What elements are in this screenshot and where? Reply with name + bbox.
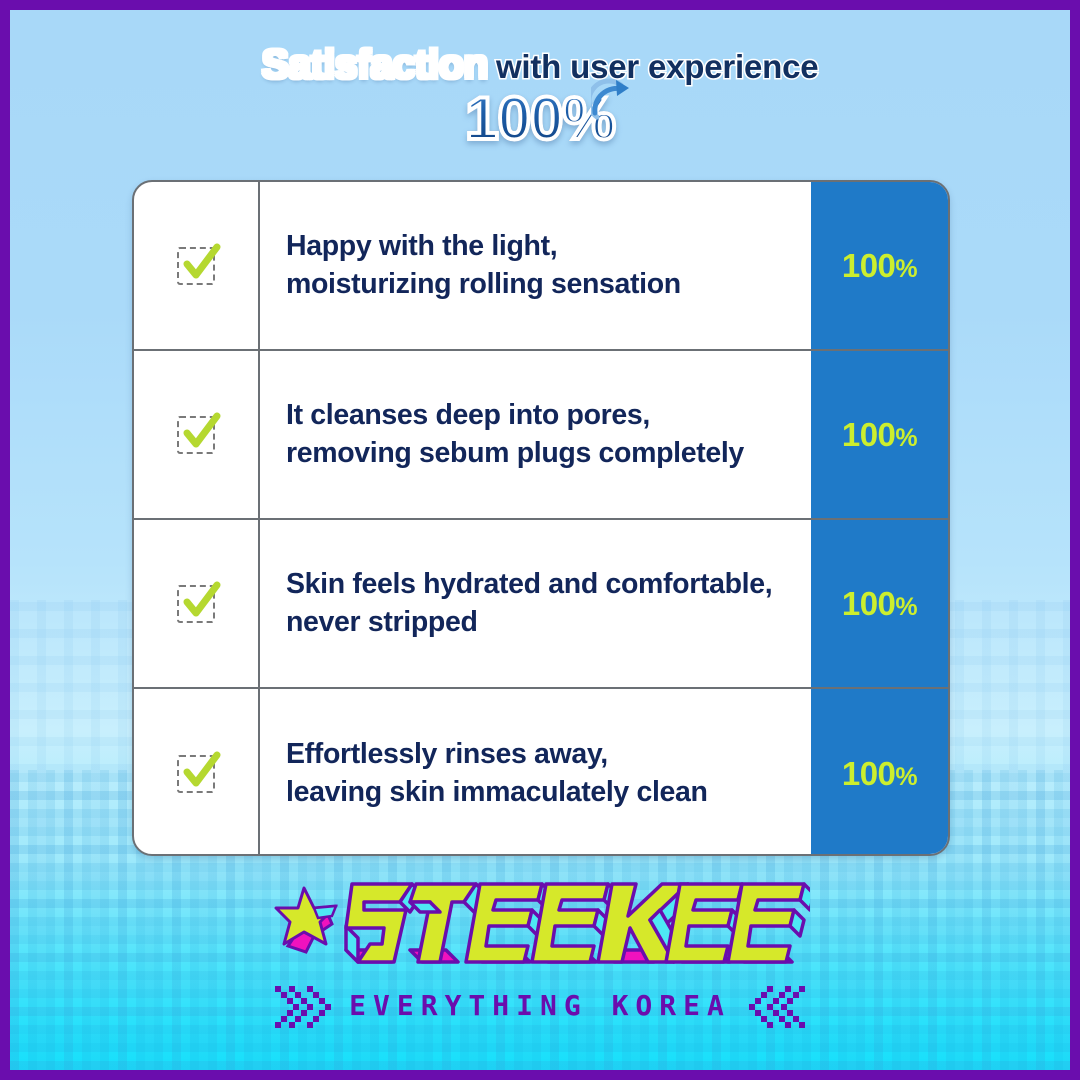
statement-cell: Skin feels hydrated and comfortable, nev… — [260, 520, 811, 687]
percent-cell: 100% — [811, 182, 948, 349]
steekee-logo — [270, 866, 810, 970]
checkbox-cell[interactable] — [134, 689, 260, 856]
percent-value: 100 — [842, 247, 896, 284]
header: Satisfactionwith user experience 100% — [10, 44, 1070, 149]
statement-line-1: Effortlessly rinses away, — [286, 736, 708, 773]
percent-value: 100 — [842, 585, 896, 622]
checkbox-cell[interactable] — [134, 520, 260, 687]
percent-cell: 100% — [811, 520, 948, 687]
percent-suffix: % — [895, 593, 917, 621]
refresh-arrow-icon — [591, 77, 637, 125]
statement-cell: It cleanses deep into pores, removing se… — [260, 351, 811, 518]
table-row: Effortlessly rinses away, leaving skin i… — [134, 689, 948, 856]
statement-line-1: Skin feels hydrated and comfortable, — [286, 566, 772, 603]
poster: Satisfactionwith user experience 100% — [0, 0, 1080, 1080]
statement-cell: Happy with the light, moisturizing rolli… — [260, 182, 811, 349]
table-row: Skin feels hydrated and comfortable, nev… — [134, 520, 948, 689]
statement-line-2: leaving skin immaculately clean — [286, 774, 708, 811]
statement-line-2: never stripped — [286, 604, 772, 641]
check-mark-icon — [179, 750, 223, 794]
star-icon — [276, 888, 336, 952]
header-title: Satisfactionwith user experience — [10, 44, 1070, 85]
percent-value: 100 — [842, 755, 896, 792]
logo-letter-E4 — [728, 884, 810, 962]
percent-suffix: % — [895, 424, 917, 452]
brand-logo — [10, 866, 1070, 975]
table-row: Happy with the light, moisturizing rolli… — [134, 182, 948, 351]
checkbox-checked-icon[interactable] — [177, 585, 215, 623]
statement-line-2: removing sebum plugs completely — [286, 435, 744, 472]
checkbox-checked-icon[interactable] — [177, 755, 215, 793]
double-chevron-right-icon — [273, 978, 333, 1032]
check-mark-icon — [179, 411, 223, 455]
check-mark-icon — [179, 580, 223, 624]
statement-line-1: Happy with the light, — [286, 228, 681, 265]
checkbox-checked-icon[interactable] — [177, 416, 215, 454]
percent-cell: 100% — [811, 689, 948, 856]
tagline-row: EVERYTHING KOREA — [10, 978, 1070, 1032]
checkbox-cell[interactable] — [134, 351, 260, 518]
tagline-text: EVERYTHING KOREA — [349, 989, 731, 1022]
statement-cell: Effortlessly rinses away, leaving skin i… — [260, 689, 811, 856]
satisfaction-table: Happy with the light, moisturizing rolli… — [132, 180, 950, 856]
header-score-wrap: 100% — [465, 89, 614, 149]
header-title-rest: with user experience — [496, 48, 818, 85]
percent-suffix: % — [895, 255, 917, 283]
checkbox-cell[interactable] — [134, 182, 260, 349]
percent-value: 100 — [842, 416, 896, 453]
header-title-strong: Satisfaction — [262, 41, 488, 87]
checkbox-checked-icon[interactable] — [177, 247, 215, 285]
poster-canvas: Satisfactionwith user experience 100% — [10, 10, 1070, 1070]
double-chevron-left-icon — [747, 978, 807, 1032]
check-mark-icon — [179, 242, 223, 286]
statement-line-2: moisturizing rolling sensation — [286, 266, 681, 303]
table-row: It cleanses deep into pores, removing se… — [134, 351, 948, 520]
percent-suffix: % — [895, 763, 917, 791]
statement-line-1: It cleanses deep into pores, — [286, 397, 744, 434]
percent-cell: 100% — [811, 351, 948, 518]
